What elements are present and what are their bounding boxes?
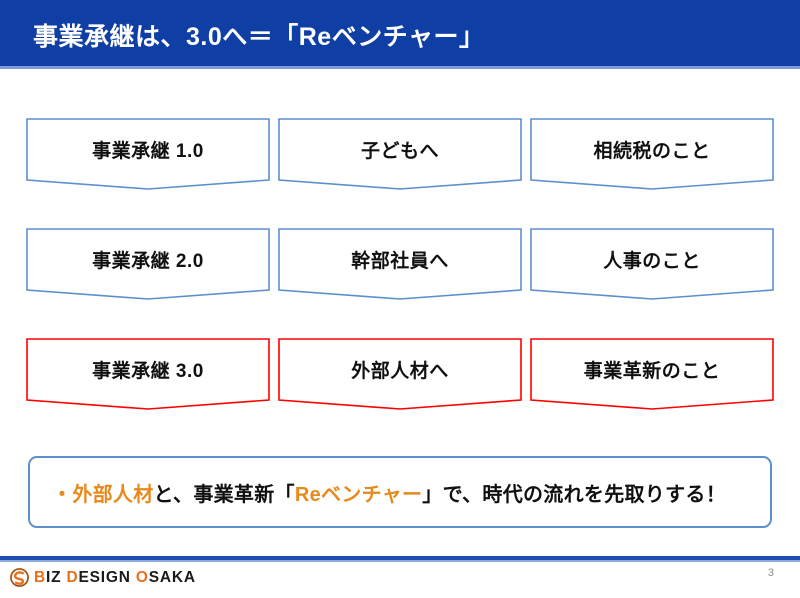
logo-letters-iz: IZ [46,569,61,586]
chevron-box-r2c3[interactable]: 人事のこと [530,228,774,300]
callout-highlight-2: Reベンチャー [295,478,422,507]
header-underline [0,66,800,69]
chevron-label: 事業承継 1.0 [26,118,270,180]
chevron-label: 幹部社員へ [278,228,522,290]
logo-letters-saka: SAKA [149,569,196,586]
chevron-box-r3c2[interactable]: 外部人材へ [278,338,522,410]
summary-callout-box: ・ 外部人材 と、事業革新「 Reベンチャー 」で、時代の流れを先取りする！ [28,456,772,528]
slide: 事業承継は、3.0へ＝「Reベンチャー」 事業承継 1.0 子どもへ 相続税のこ… [0,0,800,598]
chevron-box-r1c1[interactable]: 事業承継 1.0 [26,118,270,190]
chevron-box-r1c3[interactable]: 相続税のこと [530,118,774,190]
brand-logo: BIZ DESIGN OSAKA [10,568,196,587]
chevron-box-r3c1[interactable]: 事業承継 3.0 [26,338,270,410]
chevron-label: 人事のこと [530,228,774,290]
callout-highlight-1: 外部人材 [72,478,153,507]
page-number: 3 [768,567,774,579]
chevron-box-r1c2[interactable]: 子どもへ [278,118,522,190]
chevron-label: 子どもへ [278,118,522,180]
chevron-box-r3c3[interactable]: 事業革新のこと [530,338,774,410]
callout-bullet: ・ [52,478,72,507]
chevron-label: 事業革新のこと [530,338,774,400]
footer-rule-secondary [0,560,800,562]
summary-callout-text: ・ 外部人材 と、事業革新「 Reベンチャー 」で、時代の流れを先取りする！ [30,458,770,526]
logo-letter-b: B [34,569,46,586]
logo-letter-d: D [66,569,78,586]
circle-s-logo-icon [10,568,29,587]
chevron-label: 事業承継 2.0 [26,228,270,290]
chevron-label: 相続税のこと [530,118,774,180]
page-title: 事業承継は、3.0へ＝「Reベンチャー」 [33,17,484,53]
chevron-box-r2c1[interactable]: 事業承継 2.0 [26,228,270,300]
brand-logo-text: BIZ DESIGN OSAKA [34,569,196,587]
callout-plain-2: 」で、時代の流れを先取りする！ [422,478,726,507]
chevron-box-r2c2[interactable]: 幹部社員へ [278,228,522,300]
chevron-label: 事業承継 3.0 [26,338,270,400]
logo-letter-o: O [136,569,149,586]
logo-letters-esign: ESIGN [78,569,130,586]
callout-plain-1: と、事業革新「 [154,478,295,507]
chevron-label: 外部人材へ [278,338,522,400]
